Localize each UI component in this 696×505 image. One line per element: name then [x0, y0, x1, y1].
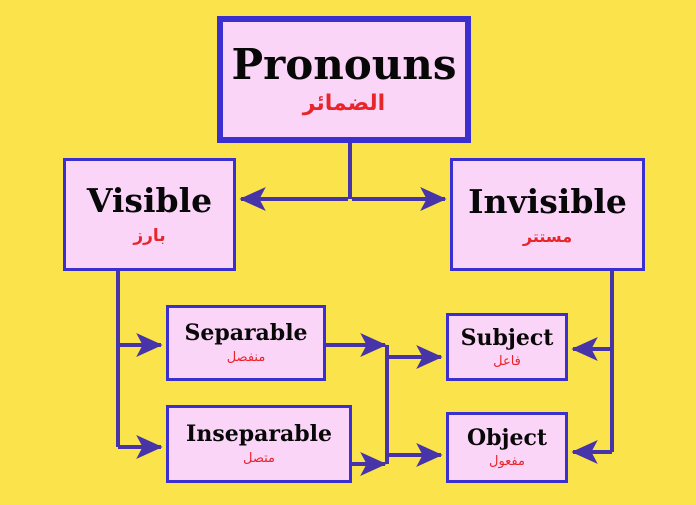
node-separable-label-ar: منفصل — [227, 351, 266, 364]
node-inseparable-label-ar: متصل — [243, 452, 275, 465]
node-separable[interactable]: Separable منفصل — [166, 305, 326, 381]
node-visible[interactable]: Visible بارز — [63, 158, 236, 271]
node-pronouns[interactable]: Pronouns الضمائر — [217, 16, 471, 143]
node-invisible[interactable]: Invisible مستتر — [450, 158, 645, 271]
node-object-label-en: Object — [467, 427, 547, 449]
node-inseparable-label-en: Inseparable — [186, 423, 332, 445]
node-inseparable[interactable]: Inseparable متصل — [166, 405, 352, 483]
node-subject[interactable]: Subject فاعل — [446, 313, 568, 381]
node-object-label-ar: مفعول — [489, 455, 525, 468]
node-subject-label-ar: فاعل — [493, 355, 521, 368]
node-subject-label-en: Subject — [461, 327, 554, 349]
node-object[interactable]: Object مفعول — [446, 412, 568, 483]
node-invisible-label-ar: مستتر — [523, 229, 572, 245]
node-pronouns-label-ar: الضمائر — [303, 93, 385, 115]
node-pronouns-label-en: Pronouns — [232, 44, 457, 86]
node-invisible-label-en: Invisible — [468, 185, 627, 218]
diagram-canvas: Pronouns الضمائر Visible بارز Invisible … — [0, 0, 696, 505]
node-visible-label-en: Visible — [87, 184, 212, 217]
node-separable-label-en: Separable — [184, 322, 307, 344]
node-visible-label-ar: بارز — [133, 228, 165, 245]
